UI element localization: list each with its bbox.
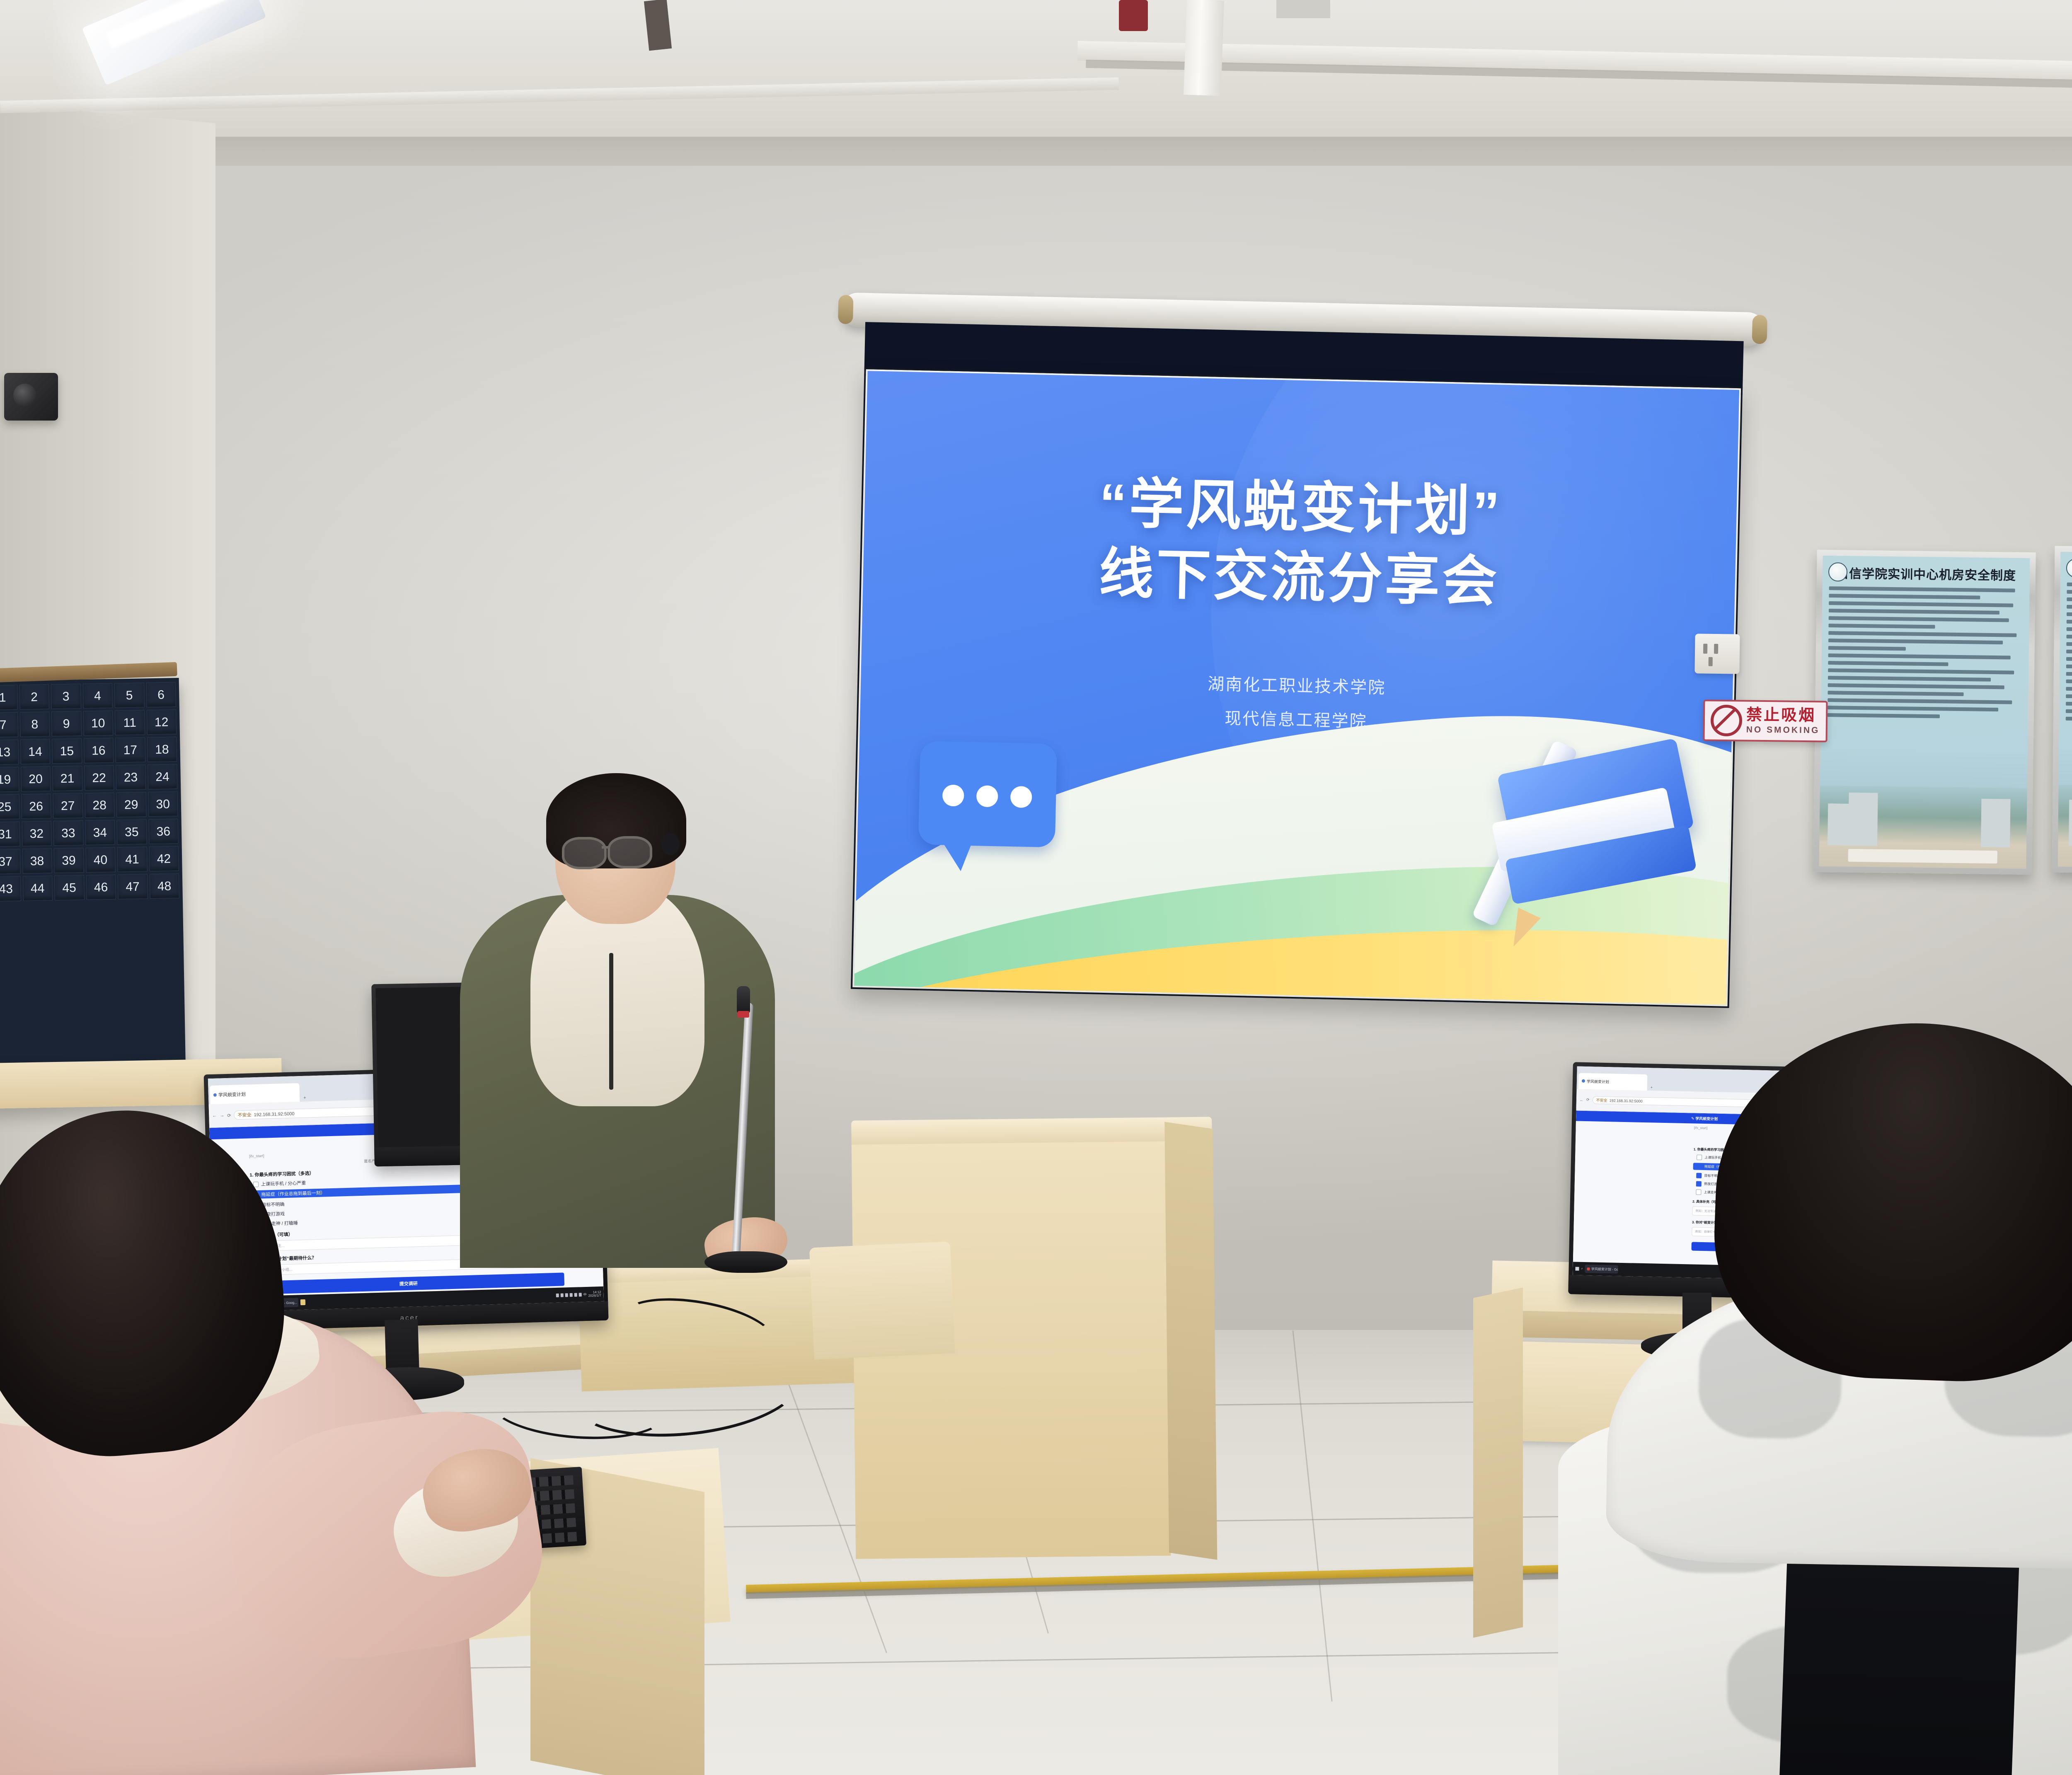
browser-tab-title: 学风蜕变计划 — [218, 1091, 246, 1098]
floor-grout-line — [1293, 1330, 1333, 1701]
pocket-cell: 42 — [149, 846, 179, 871]
wall-speaker — [4, 373, 58, 421]
plaque-safety-rules: 自信学院实训中心机房安全制度 — [1813, 550, 2036, 875]
browser-tab[interactable]: 学风蜕变计划 — [1578, 1073, 1648, 1091]
pocket-cell: 45 — [54, 875, 85, 900]
slide-title: “学风蜕变计划” 线下交流分享会 — [862, 463, 1737, 622]
plaque-1-title: 自信学院实训中心机房安全制度 — [1829, 563, 2024, 584]
forward-icon[interactable]: → — [220, 1113, 224, 1118]
ceiling-fixture-right — [1276, 0, 1330, 18]
pocket-cell: 44 — [22, 875, 53, 901]
plaque-1-campus-photo — [1819, 786, 2027, 869]
no-smoking-sign: 禁止吸烟 NO SMOKING — [1703, 699, 1828, 742]
checkbox[interactable] — [1697, 1154, 1702, 1160]
pocket-cell: 20 — [21, 766, 51, 791]
presentation-slide: “学风蜕变计划” 线下交流分享会 湖南化工职业技术学院 现代信息工程学院 — [854, 371, 1739, 1005]
pocket-cell: 30 — [148, 791, 178, 817]
pocket-cell: 46 — [86, 875, 116, 900]
pocket-cell: 33 — [53, 820, 84, 846]
system-tray[interactable]: 中 14:12 2026/1/7 — [556, 1291, 601, 1299]
pocket-cell: 19 — [0, 767, 19, 792]
browser-tab[interactable]: 学风蜕变计划 — [210, 1083, 300, 1104]
microphone-base — [704, 1251, 787, 1273]
checkbox[interactable] — [1696, 1181, 1702, 1186]
pocket-cell: 15 — [52, 738, 82, 764]
no-smoking-label-en: NO SMOKING — [1746, 725, 1820, 735]
pocket-cell: 40 — [85, 847, 116, 873]
presenter-glasses-bridge — [602, 846, 610, 849]
pocket-cell: 35 — [117, 819, 147, 844]
pocket-cell: 8 — [19, 711, 50, 737]
taskbar-item[interactable]: 学风蜕变计划 - Go... — [1585, 1265, 1618, 1273]
pocket-cell: 47 — [118, 874, 148, 899]
pocket-cell: 11 — [115, 710, 145, 735]
no-smoking-label-cn: 禁止吸烟 — [1746, 707, 1820, 723]
pocket-cell: 3 — [51, 684, 81, 709]
plaque-2-campus-photo — [2058, 785, 2072, 868]
pocket-cell: 26 — [21, 793, 51, 819]
pocket-cell: 14 — [20, 739, 51, 764]
plaque-usage-rules: 自信学院实训中心机房使用制度 — [2052, 546, 2072, 875]
start-icon[interactable] — [1575, 1267, 1579, 1270]
pocket-cell: 48 — [149, 873, 179, 899]
file-icon[interactable] — [300, 1299, 305, 1305]
reload-icon[interactable]: ⟳ — [227, 1112, 231, 1118]
favicon-icon — [1582, 1079, 1585, 1083]
podium-rail — [809, 1241, 955, 1359]
app-title: 学风蜕变计划 — [1695, 1116, 1718, 1121]
plaque-2-body — [2066, 583, 2072, 722]
pocket-cell: 25 — [0, 794, 19, 820]
presenter-glasses-right — [608, 836, 652, 868]
projection-screen: “学风蜕变计划” 线下交流分享会 湖南化工职业技术学院 现代信息工程学院 — [850, 318, 1744, 1025]
pocket-cell: 17 — [115, 737, 145, 762]
clock-date[interactable]: 2026/1/7 — [588, 1294, 601, 1298]
lectern-podium — [851, 1117, 1217, 1584]
pocket-cell: 12 — [146, 709, 177, 735]
back-icon[interactable]: ← — [1580, 1098, 1583, 1102]
pocket-cell: 38 — [22, 848, 52, 873]
chat-bubble-icon — [918, 741, 1057, 848]
wall-power-socket[interactable] — [1694, 634, 1740, 674]
pocket-cell: 10 — [83, 711, 113, 736]
podium-side-panel — [1164, 1122, 1217, 1560]
pocket-number-grid: 1234567891011121314151617181920212223242… — [0, 682, 179, 902]
pocket-cell: 41 — [117, 846, 148, 872]
insecure-badge: 不安全 — [237, 1113, 251, 1118]
desk-back-right-side — [1473, 1287, 1523, 1638]
monitor-left-stand-neck — [385, 1319, 419, 1374]
phone-pocket-chart: 1234567891011121314151617181920212223242… — [0, 678, 186, 1079]
classroom-photo-scene: 1234567891011121314151617181920212223242… — [0, 0, 2072, 1775]
pocket-cell: 36 — [148, 819, 179, 844]
address-bar-url: 192.168.31.92:5000 — [1609, 1098, 1642, 1103]
pocket-cell: 2 — [19, 684, 49, 709]
pocket-cell: 43 — [0, 876, 21, 902]
pocket-cell: 7 — [0, 712, 18, 738]
screen-surface: “学风蜕变计划” 线下交流分享会 湖南化工职业技术学院 现代信息工程学院 — [851, 368, 1743, 1008]
pocket-cell: 6 — [146, 682, 176, 707]
presenter-earbud — [661, 834, 680, 855]
new-tab-button[interactable]: + — [1648, 1086, 1655, 1091]
reload-icon[interactable]: ⟳ — [1586, 1098, 1590, 1102]
pocket-cell: 23 — [116, 764, 146, 790]
pocket-cell: 27 — [53, 793, 83, 818]
pocket-cell: 16 — [84, 738, 114, 763]
search-icon[interactable]: ⌕ — [1581, 1267, 1583, 1271]
new-tab-button[interactable]: + — [301, 1095, 309, 1102]
no-smoking-icon — [1711, 705, 1743, 737]
pencil-icon: ✎ — [1691, 1116, 1694, 1120]
browser-tab-title: 学风蜕变计划 — [1587, 1079, 1609, 1084]
pocket-cell: 39 — [54, 848, 84, 873]
ceiling-pipe — [1184, 0, 1224, 96]
pocket-cell: 34 — [85, 820, 115, 845]
pocket-cell: 32 — [22, 821, 52, 846]
pocket-cell: 29 — [116, 792, 146, 817]
presenter-glasses-left — [562, 837, 607, 869]
microphone-indicator — [738, 1011, 749, 1018]
pocket-cell: 1 — [0, 685, 17, 710]
ceiling-fixture-red — [1119, 0, 1148, 31]
insecure-badge: 不安全 — [1596, 1098, 1607, 1103]
checkbox[interactable] — [1696, 1173, 1702, 1178]
pocket-cell: 5 — [114, 682, 145, 708]
pocket-cell: 9 — [51, 711, 82, 736]
address-bar-url: 192.168.31.92:5000 — [254, 1112, 294, 1118]
back-icon[interactable]: ← — [212, 1113, 217, 1118]
pocket-cell: 28 — [85, 793, 115, 818]
pocket-cell: 18 — [147, 737, 177, 762]
pocket-cell: 37 — [0, 849, 20, 874]
pocket-cell: 13 — [0, 740, 19, 765]
pocket-cell: 4 — [82, 683, 113, 709]
pocket-cell: 24 — [148, 764, 178, 789]
ime-indicator[interactable]: 中 — [583, 1292, 586, 1297]
pocket-cell: 22 — [84, 765, 114, 791]
presenter-zipper — [609, 953, 613, 1090]
checkbox[interactable] — [1696, 1189, 1701, 1195]
favicon-icon — [213, 1093, 217, 1096]
checkbox[interactable] — [1697, 1163, 1702, 1169]
pocket-cell: 31 — [0, 822, 20, 847]
plaque-1-body — [1828, 586, 2023, 719]
pocket-cell: 21 — [52, 766, 82, 791]
